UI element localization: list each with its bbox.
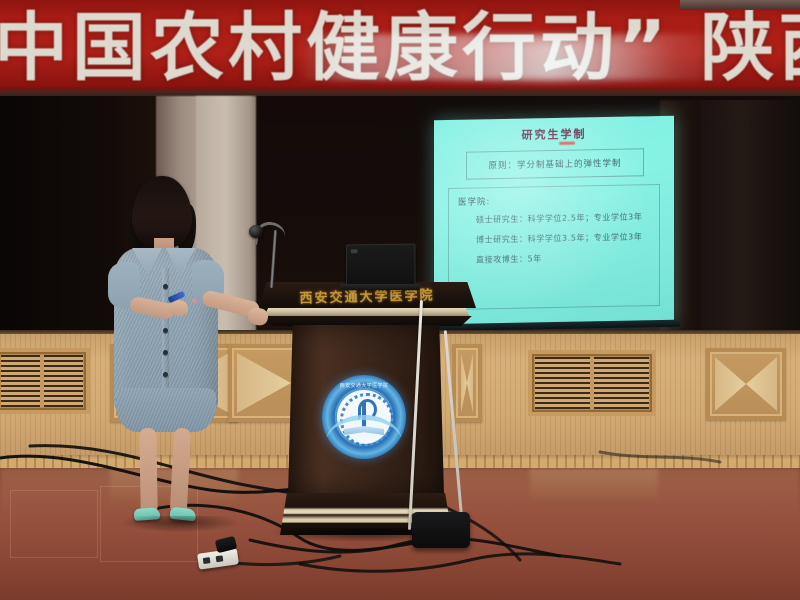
laptop-logo bbox=[351, 249, 358, 253]
slide-line-1: 硕士研究生：科学学位2.5年；专业学位3年 bbox=[476, 211, 652, 225]
slide-principle-text: 原则：学分制基础上的弹性学制 bbox=[488, 157, 621, 172]
conference-photo: 中国农村健康行动” 陕西省 研究生学制 原则：学分制基础上的弹性学制 医学院: … bbox=[0, 0, 800, 600]
dress-button bbox=[163, 284, 168, 289]
stage-banner: 中国农村健康行动” 陕西省 bbox=[0, 0, 800, 96]
diamond-panel bbox=[452, 344, 482, 422]
podium-shelf bbox=[260, 316, 474, 326]
slide-line-3: 直接攻博生：5年 bbox=[476, 251, 652, 265]
dark-pillar-right bbox=[700, 100, 800, 348]
leg-right bbox=[170, 428, 191, 513]
diamond-pattern bbox=[715, 357, 777, 411]
presenter-shadow bbox=[122, 516, 238, 532]
dress-button bbox=[163, 372, 168, 377]
university-emblem: 西安交通大学医学院 bbox=[322, 375, 406, 459]
diamond-pattern bbox=[461, 353, 473, 413]
floor-tile bbox=[10, 490, 98, 558]
podium-accent-band bbox=[264, 308, 470, 317]
laser-dot bbox=[190, 298, 199, 304]
black-bag bbox=[412, 512, 470, 548]
slide-principle-box: 原则：学分制基础上的弹性学制 bbox=[466, 148, 644, 179]
vent-grille-panel bbox=[528, 350, 656, 416]
leg-left bbox=[139, 428, 157, 512]
projector-glare-core bbox=[430, 40, 670, 80]
slide-body-box: 医学院: 硕士研究生：科学学位2.5年；专业学位3年 博士研究生：科学学位3.5… bbox=[448, 184, 660, 310]
vent-divider bbox=[590, 357, 594, 409]
vent-grille-panel bbox=[0, 348, 90, 414]
laptop bbox=[346, 244, 416, 289]
presenter bbox=[96, 176, 266, 576]
laptop-base bbox=[339, 284, 420, 290]
slide-line-2: 博士研究生：科学学位3.5年；专业学位3年 bbox=[476, 231, 652, 245]
slide-section-label: 医学院: bbox=[458, 192, 652, 208]
diamond-panel bbox=[706, 348, 786, 420]
dress-button bbox=[163, 328, 168, 333]
vent-divider bbox=[40, 355, 44, 407]
slide-title-underline bbox=[559, 142, 575, 145]
dress-button bbox=[163, 350, 168, 355]
slide-title: 研究生学制 bbox=[434, 124, 674, 145]
floor-reflection bbox=[530, 468, 658, 504]
skirt bbox=[116, 388, 216, 432]
